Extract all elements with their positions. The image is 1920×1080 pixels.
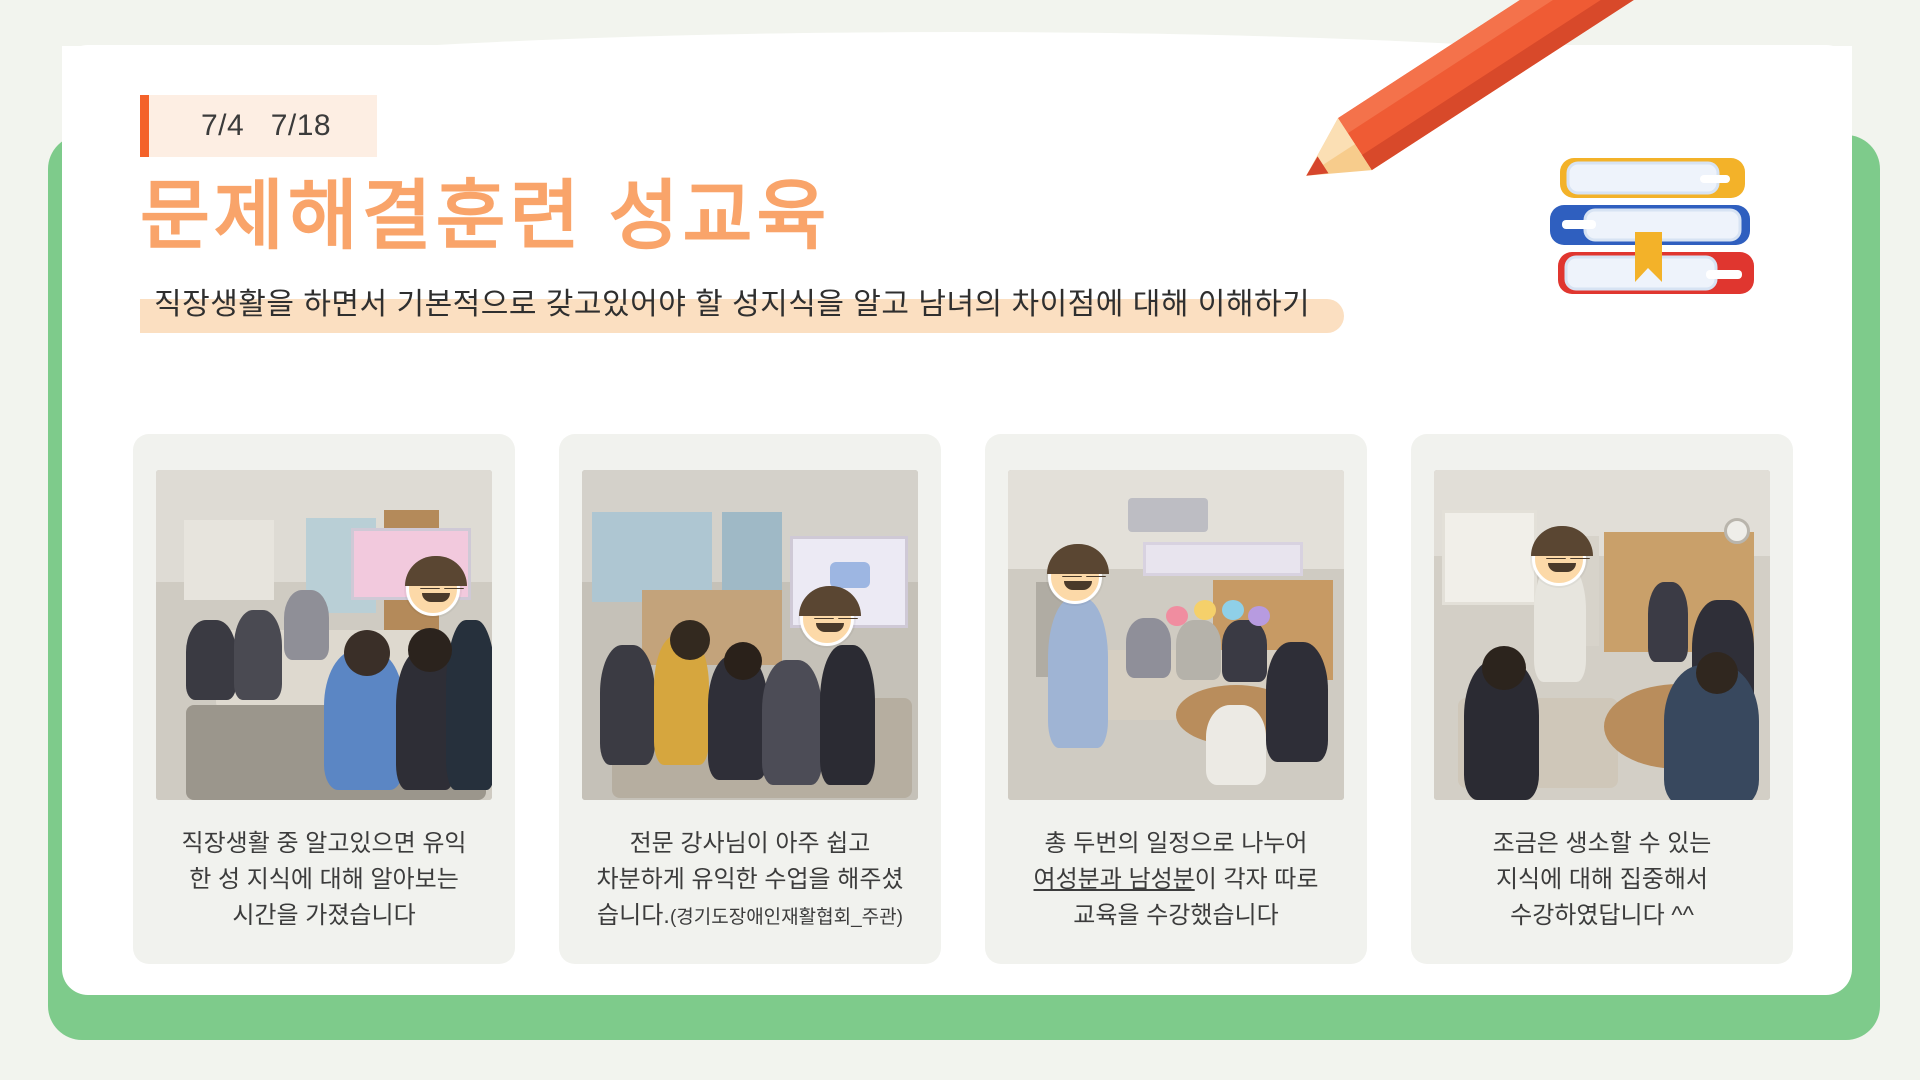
photo-caption-4: 조금은 생소할 수 있는지식에 대해 집중해서수강하였답니다 ^^ — [1493, 826, 1712, 934]
subtitle-text: 직장생활을 하면서 기본적으로 갖고있어야 할 성지식을 알고 남녀의 차이점에… — [154, 288, 1310, 321]
caption-line: 직장생활 중 알고있으면 유익 — [182, 830, 467, 857]
caption-line: 전문 강사님이 아주 쉽고 — [630, 830, 871, 857]
photo-caption-2: 전문 강사님이 아주 쉽고차분하게 유익한 수업을 해주셨습니다.(경기도장애인… — [596, 826, 903, 934]
photo-classroom-seminar-4 — [1434, 470, 1770, 800]
date-badge: 7/4 7/18 — [140, 95, 377, 157]
caption-line: 수강하였답니다 ^^ — [1510, 902, 1694, 929]
date-badge-text: 7/4 7/18 — [201, 109, 331, 143]
caption-line: 습니다. — [597, 902, 670, 929]
caption-underlined-text: 여성분과 남성분 — [1034, 866, 1195, 893]
photo-card-1: 직장생활 중 알고있으면 유익한 성 지식에 대해 알아보는시간을 가졌습니다 — [133, 434, 515, 964]
caption-line: 총 두번의 일정으로 나누어 — [1045, 830, 1308, 857]
caption-line: 조금은 생소할 수 있는 — [1493, 830, 1712, 857]
subtitle-banner: 직장생활을 하면서 기본적으로 갖고있어야 할 성지식을 알고 남녀의 차이점에… — [140, 273, 1344, 337]
photo-card-2: 전문 강사님이 아주 쉽고차분하게 유익한 수업을 해주셨습니다.(경기도장애인… — [559, 434, 941, 964]
photo-caption-3: 총 두번의 일정으로 나누어여성분과 남성분이 각자 따로교육을 수강했습니다 — [1034, 826, 1319, 934]
photo-caption-1: 직장생활 중 알고있으면 유익한 성 지식에 대해 알아보는시간을 가졌습니다 — [182, 826, 467, 934]
photo-card-3: 총 두번의 일정으로 나누어여성분과 남성분이 각자 따로교육을 수강했습니다 — [985, 434, 1367, 964]
photo-classroom-seminar-1 — [156, 470, 492, 800]
photo-classroom-seminar-2 — [582, 470, 918, 800]
poster-header: 7/4 7/18 문제해결훈련 성교육 직장생활을 하면서 기본적으로 갖고있어… — [140, 95, 1540, 337]
caption-note: (경기도장애인재활협회_주관) — [670, 907, 903, 928]
page-title: 문제해결훈련 성교육 — [140, 175, 1540, 259]
photo-classroom-seminar-3 — [1008, 470, 1344, 800]
caption-line: 교육을 수강했습니다 — [1073, 902, 1278, 929]
caption-line-rest: 이 각자 따로 — [1195, 866, 1319, 893]
photo-card-4: 조금은 생소할 수 있는지식에 대해 집중해서수강하였답니다 ^^ — [1411, 434, 1793, 964]
caption-line: 차분하게 유익한 수업을 해주셨 — [596, 866, 903, 893]
caption-line: 한 성 지식에 대해 알아보는 — [189, 866, 459, 893]
caption-line: 지식에 대해 집중해서 — [1496, 866, 1708, 893]
caption-line: 시간을 가졌습니다 — [232, 902, 415, 929]
photo-card-row: 직장생활 중 알고있으면 유익한 성 지식에 대해 알아보는시간을 가졌습니다 — [133, 434, 1793, 964]
poster-canvas: 7/4 7/18 문제해결훈련 성교육 직장생활을 하면서 기본적으로 갖고있어… — [0, 0, 1920, 1080]
